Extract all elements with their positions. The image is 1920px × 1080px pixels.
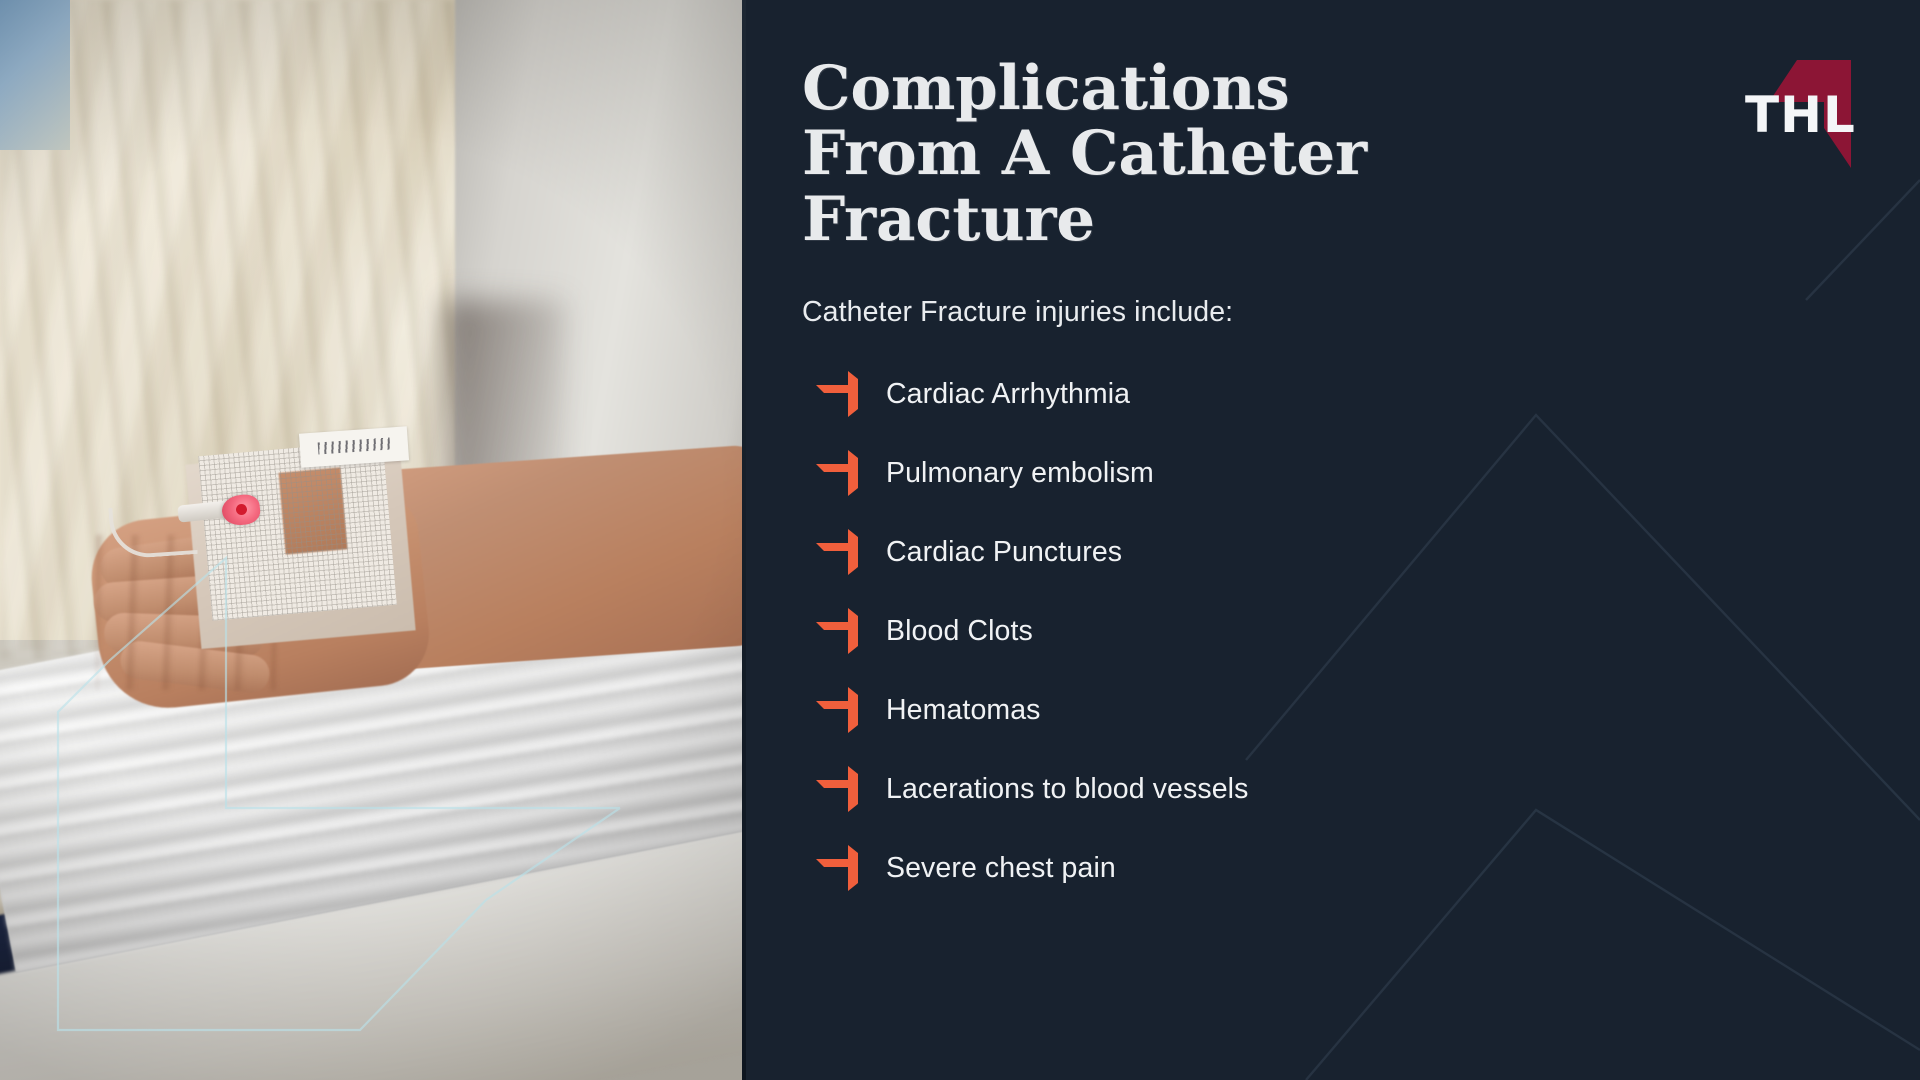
injury-list: Cardiac Arrhythmia Pulmonary embolism	[802, 355, 1920, 908]
corner-arrow-marker-icon	[816, 687, 858, 733]
thl-logo[interactable]: THL	[1739, 36, 1864, 171]
thl-logo-mark: THL	[1739, 36, 1864, 171]
corner-arrow-marker-icon	[816, 845, 858, 891]
corner-arrow-marker-icon	[816, 529, 858, 575]
subheading: Catheter Fracture injuries include:	[802, 296, 1920, 329]
list-item-label: Hematomas	[886, 694, 1041, 727]
headline-line-3: Fracture	[802, 187, 1562, 252]
corner-arrow-marker-icon	[816, 450, 858, 496]
page-title: Complications From A Catheter Fracture	[802, 56, 1562, 252]
list-item: Hematomas	[802, 671, 1920, 750]
list-item: Cardiac Arrhythmia	[802, 355, 1920, 434]
infographic-root: THL Complications From A Catheter Fractu…	[0, 0, 1920, 1080]
list-item-label: Cardiac Arrhythmia	[886, 378, 1130, 411]
photo-vignette	[0, 0, 742, 1080]
list-item: Blood Clots	[802, 592, 1920, 671]
list-item-label: Severe chest pain	[886, 852, 1116, 885]
corner-arrow-marker-icon	[816, 371, 858, 417]
content-panel: THL Complications From A Catheter Fractu…	[746, 0, 1920, 1080]
list-item-label: Pulmonary embolism	[886, 457, 1154, 490]
list-item: Lacerations to blood vessels	[802, 750, 1920, 829]
corner-arrow-marker-icon	[816, 608, 858, 654]
headline-line-2: From A Catheter	[802, 121, 1562, 186]
patient-hand-iv-photo	[0, 0, 742, 1080]
list-item-label: Cardiac Punctures	[886, 536, 1122, 569]
list-item-label: Blood Clots	[886, 615, 1033, 648]
headline-line-1: Complications	[802, 56, 1562, 121]
list-item: Pulmonary embolism	[802, 434, 1920, 513]
list-item-label: Lacerations to blood vessels	[886, 773, 1248, 806]
logo-wordmark: THL	[1745, 86, 1856, 144]
list-item: Cardiac Punctures	[802, 513, 1920, 592]
corner-arrow-marker-icon	[816, 766, 858, 812]
list-item: Severe chest pain	[802, 829, 1920, 908]
